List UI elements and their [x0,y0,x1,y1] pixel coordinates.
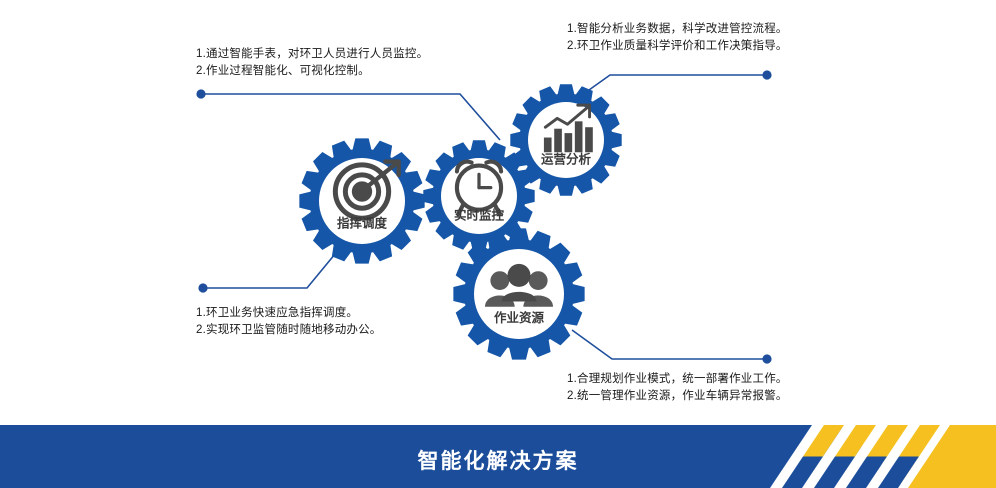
gear-work-resources[interactable]: 作业资源 [453,228,584,359]
gear-label-command-dispatch: 指挥调度 [337,216,388,231]
connector-line-callout-analysis [582,75,767,95]
callout-analysis: 1.智能分析业务数据，科学改进管控流程。 2.环卫作业质量科学评价和工作决策指导… [567,21,788,55]
infographic-canvas: 运营分析实时监控指挥调度作业资源 1.通过智能手表，对环卫人员进行人员监控。 2… [0,0,996,488]
callout-monitor: 1.通过智能手表，对环卫人员进行人员监控。 2.作业过程智能化、可视化控制。 [196,46,428,80]
chart-bar-2 [554,129,562,153]
connector-dot-callout-analysis [762,70,771,79]
connector-line-callout-monitor [201,94,500,140]
connector-line-callout-dispatch [203,248,340,288]
gear-label-work-resources: 作业资源 [494,310,545,325]
connector-dot-callout-resources [762,354,771,363]
callout-dispatch: 1.环卫业务快速应急指挥调度。 2.实现环卫监管随时随地移动办公。 [196,305,382,339]
gear-label-realtime-monitor: 实时监控 [454,208,505,223]
callout-resources-line-2: 2.统一管理作业资源，作业车辆异常报警。 [567,388,788,405]
callout-monitor-line-2: 2.作业过程智能化、可视化控制。 [196,63,428,80]
chart-bar-5 [585,127,593,152]
connector-dot-callout-dispatch [198,283,207,292]
person-right-head [529,271,548,290]
chart-bar-4 [575,121,583,152]
banner-title: 智能化解决方案 [0,445,996,475]
callout-resources-line-1: 1.合理规划作业模式，统一部署作业工作。 [567,371,788,388]
callout-analysis-line-2: 2.环卫作业质量科学评价和工作决策指导。 [567,38,788,55]
person-center-head [507,264,530,287]
infographic-artwork: 运营分析实时监控指挥调度作业资源 [0,0,996,488]
chart-bar-1 [544,138,552,153]
connector-line-callout-resources [572,330,767,359]
chart-bar-3 [565,133,573,152]
gear-command-dispatch[interactable]: 指挥调度 [299,138,424,263]
callout-analysis-line-1: 1.智能分析业务数据，科学改进管控流程。 [567,21,788,38]
person-left-head [490,271,509,290]
callout-monitor-line-1: 1.通过智能手表，对环卫人员进行人员监控。 [196,46,428,63]
connector-dot-callout-monitor [196,89,205,98]
gear-hub-realtime-monitor [441,158,517,234]
callout-dispatch-line-1: 1.环卫业务快速应急指挥调度。 [196,305,382,322]
gear-label-operation-analysis: 运营分析 [541,152,592,167]
callout-dispatch-line-2: 2.实现环卫监管随时随地移动办公。 [196,322,382,339]
callout-resources: 1.合理规划作业模式，统一部署作业工作。 2.统一管理作业资源，作业车辆异常报警… [567,371,788,405]
